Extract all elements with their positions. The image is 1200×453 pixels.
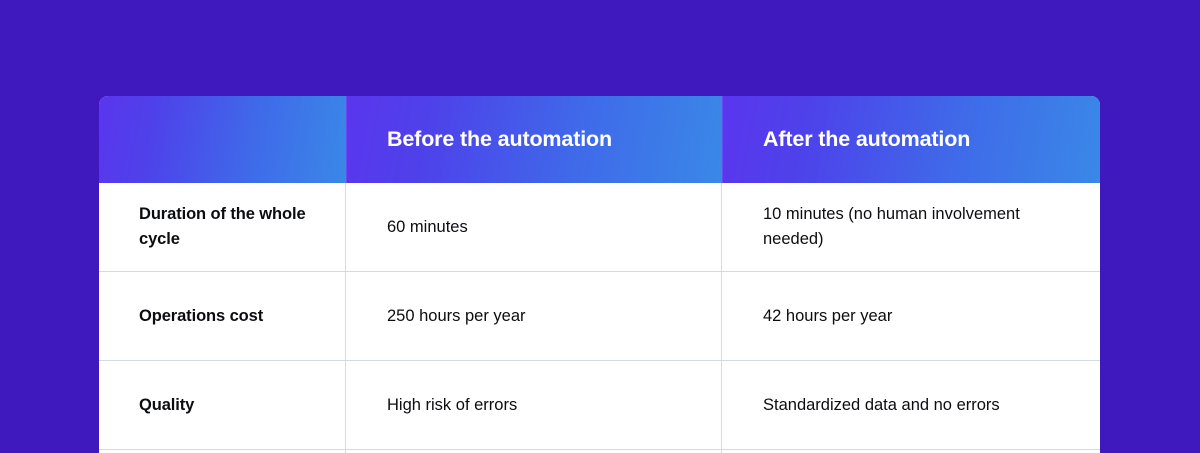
- before-value: 60 minutes: [387, 215, 468, 240]
- table-header-row: Before the automation After the automati…: [99, 96, 1100, 183]
- table-cell-before: High risk of errors: [346, 361, 722, 449]
- table-cell-before: 250 hours per year: [346, 272, 722, 360]
- after-value: Standardized data and no errors: [763, 393, 1000, 418]
- table-row: Quality High risk of errors Standardized…: [99, 360, 1100, 449]
- table-cell-after: 10 minutes (no human involvement needed): [722, 183, 1100, 271]
- metric-label: Operations cost: [139, 304, 263, 329]
- before-value: High risk of errors: [387, 393, 517, 418]
- header-divider: [346, 96, 347, 183]
- before-value: 250 hours per year: [387, 304, 526, 329]
- header-divider: [722, 96, 723, 183]
- table-cell-metric: Operations cost: [99, 272, 346, 360]
- header-cell-metric: [99, 96, 346, 183]
- table-row: Duration of the whole cycle 60 minutes 1…: [99, 183, 1100, 271]
- header-cell-before: Before the automation: [346, 96, 722, 183]
- table-cell-after: 42 hours per year: [722, 272, 1100, 360]
- header-cell-after: After the automation: [722, 96, 1100, 183]
- table-cell-after: Standardized data and no errors: [722, 361, 1100, 449]
- metric-label: Quality: [139, 393, 194, 418]
- page-canvas: Before the automation After the automati…: [0, 0, 1200, 453]
- table-cell-metric: Duration of the whole cycle: [99, 183, 346, 271]
- header-label-before: Before the automation: [387, 127, 612, 152]
- table-row: [99, 449, 1100, 453]
- after-value: 42 hours per year: [763, 304, 892, 329]
- after-value: 10 minutes (no human involvement needed): [763, 202, 1070, 252]
- header-label-after: After the automation: [763, 127, 970, 152]
- metric-label: Duration of the whole cycle: [139, 202, 325, 252]
- table-row: Operations cost 250 hours per year 42 ho…: [99, 271, 1100, 360]
- table-cell-metric: Quality: [99, 361, 346, 449]
- automation-comparison-table: Before the automation After the automati…: [99, 96, 1100, 453]
- table-cell-before: 60 minutes: [346, 183, 722, 271]
